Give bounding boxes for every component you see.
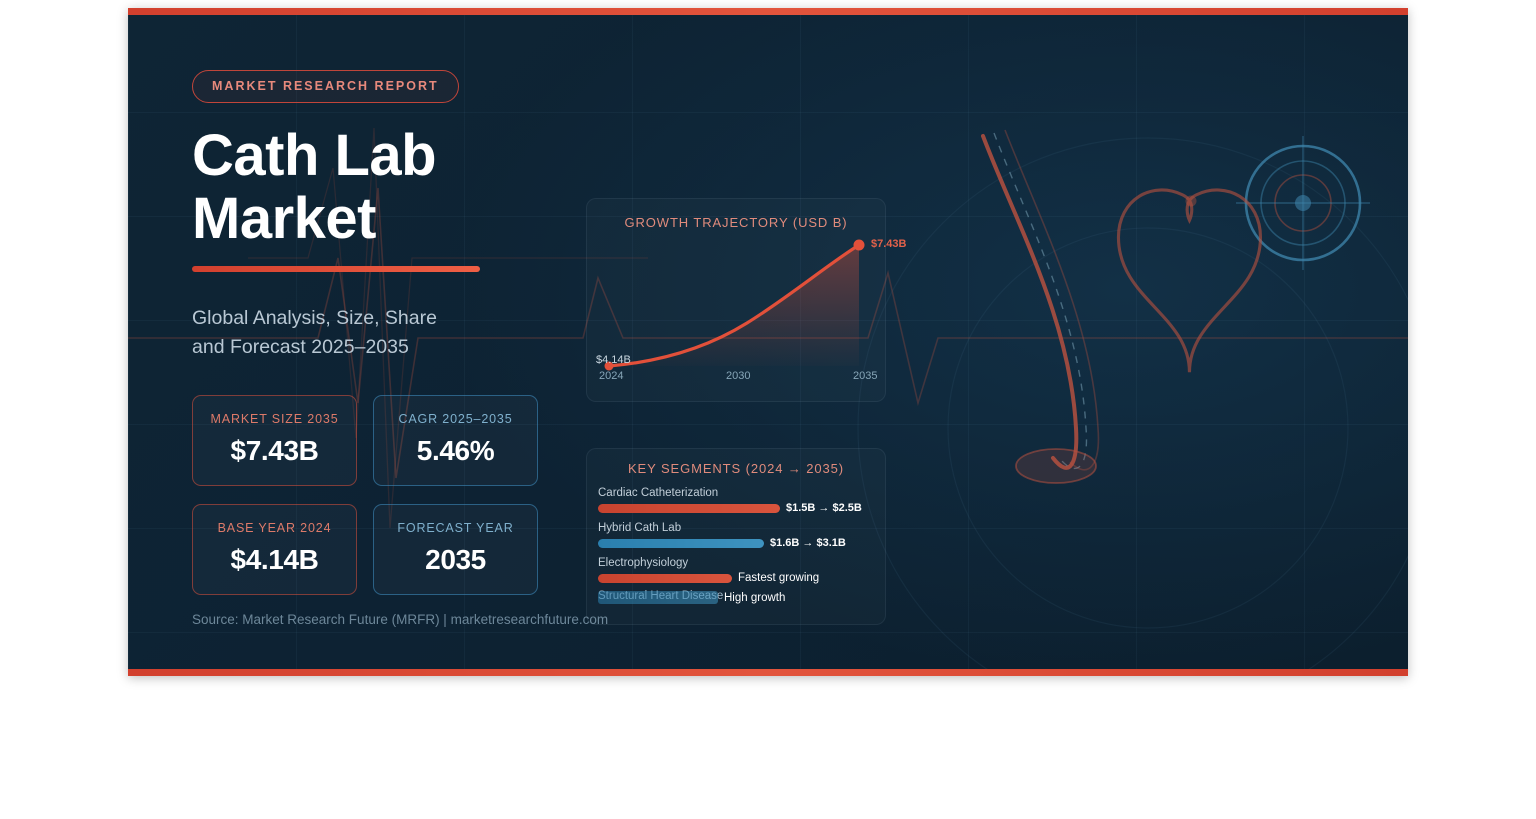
- segment-bar: [598, 504, 780, 513]
- segment-value: High growth: [724, 592, 785, 604]
- title-underline: [192, 266, 480, 272]
- screenshot-root: MARKET RESEARCH REPORT Cath Lab Market G…: [0, 0, 1536, 819]
- stat-card-cagr: CAGR 2025–2035 5.46%: [373, 395, 538, 486]
- stat-value: $4.14B: [203, 544, 346, 576]
- stat-label: FORECAST YEAR: [384, 521, 527, 535]
- stat-card-market-size: MARKET SIZE 2035 $7.43B: [192, 395, 357, 486]
- segment-value: Fastest growing: [738, 572, 819, 584]
- segment-label: Electrophysiology: [598, 557, 876, 569]
- infographic-canvas: MARKET RESEARCH REPORT Cath Lab Market G…: [128, 8, 1408, 676]
- page-title: Cath Lab Market: [192, 125, 612, 250]
- accent-bar-bottom: [128, 669, 1408, 676]
- source-attribution: Source: Market Research Future (MRFR) | …: [192, 612, 608, 627]
- segment-bar: [598, 574, 732, 583]
- segment-row: Electrophysiology Fastest growing: [598, 557, 876, 584]
- stat-value: $7.43B: [203, 435, 346, 467]
- growth-chart: $4.14B $7.43B 2024 2030 2035: [587, 199, 885, 401]
- report-badge: MARKET RESEARCH REPORT: [192, 70, 459, 103]
- growth-trajectory-panel: GROWTH TRAJECTORY (USD B) $4.14B $7: [586, 198, 886, 402]
- segment-bar: [598, 539, 764, 548]
- segment-bar-line: Fastest growing: [598, 572, 876, 584]
- segment-label: Cardiac Catheterization: [598, 487, 876, 499]
- stat-value: 2035: [384, 544, 527, 576]
- key-segments-panel: KEY SEGMENTS (2024 → 2035) Cardiac Cathe…: [586, 448, 886, 625]
- segment-bar-line: $1.5B → $2.5B: [598, 502, 876, 514]
- segment-row: Cardiac Catheterization $1.5B → $2.5B: [598, 487, 876, 514]
- left-column: MARKET RESEARCH REPORT Cath Lab Market G…: [192, 70, 612, 595]
- segments-list: Cardiac Catheterization $1.5B → $2.5B Hy…: [598, 487, 876, 613]
- segment-row: Hybrid Cath Lab $1.6B → $3.1B: [598, 522, 876, 549]
- segments-title: KEY SEGMENTS (2024 → 2035): [587, 449, 885, 476]
- segment-label: Hybrid Cath Lab: [598, 522, 876, 534]
- chart-start-label: $4.14B: [596, 354, 631, 366]
- segment-value: $1.6B → $3.1B: [770, 537, 846, 549]
- chart-point-end: [854, 240, 865, 251]
- heart-icon: [1118, 190, 1260, 372]
- segment-bar-line: High growth: [598, 590, 876, 605]
- x-axis-tick: 2024: [599, 370, 623, 382]
- segment-bar: [598, 591, 718, 604]
- stat-label: MARKET SIZE 2035: [203, 412, 346, 426]
- segment-value: $1.5B → $2.5B: [786, 502, 862, 514]
- segment-row: Structural Heart Disease High growth: [598, 590, 876, 605]
- stat-card-forecast-year: FORECAST YEAR 2035: [373, 504, 538, 595]
- accent-bar-top: [128, 8, 1408, 15]
- x-axis-tick: 2035: [853, 370, 877, 382]
- stat-label: CAGR 2025–2035: [384, 412, 527, 426]
- catheter-curve-icon: [983, 130, 1098, 483]
- stat-card-grid: MARKET SIZE 2035 $7.43B CAGR 2025–2035 5…: [192, 395, 540, 595]
- title-line-1: Cath Lab: [192, 123, 436, 188]
- title-line-2: Market: [192, 186, 376, 251]
- target-crosshair-icon: [1236, 136, 1370, 270]
- decorative-illustration: [958, 128, 1408, 548]
- stat-label: BASE YEAR 2024: [203, 521, 346, 535]
- subtitle: Global Analysis, Size, Share and Forecas…: [192, 304, 462, 361]
- segment-bar-line: $1.6B → $3.1B: [598, 537, 876, 549]
- chart-area-fill: [609, 245, 859, 366]
- x-axis-tick: 2030: [726, 370, 750, 382]
- chart-end-label: $7.43B: [871, 238, 906, 250]
- stat-value: 5.46%: [384, 435, 527, 467]
- stat-card-base-year: BASE YEAR 2024 $4.14B: [192, 504, 357, 595]
